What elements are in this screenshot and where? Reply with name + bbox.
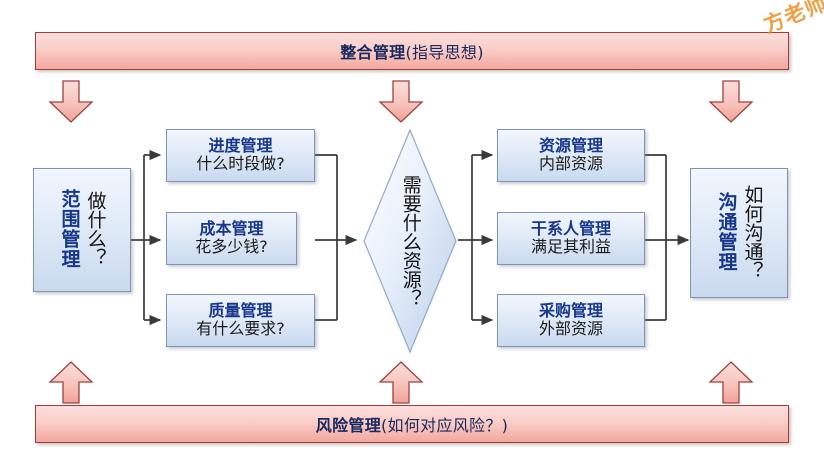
node-quality-management[interactable]: 质量管理 有什么要求? — [166, 294, 315, 347]
node-scope-management-question: 做什么？ — [86, 191, 105, 267]
node-quality-management-subtitle: 有什么要求? — [196, 321, 285, 338]
node-stakeholder-management-title: 干系人管理 — [531, 221, 611, 238]
down-arrow-right — [708, 80, 754, 124]
diagram-canvas: 整合管理(指导思想) 范围管理 做什么？ 进度管理 — [0, 0, 824, 464]
up-arrow-right — [708, 360, 754, 404]
down-arrow-center — [378, 80, 424, 124]
node-schedule-management-subtitle: 什么时段做? — [196, 156, 285, 173]
node-communication-management[interactable]: 沟通管理 如何沟通？ — [690, 168, 788, 298]
node-procurement-management-subtitle: 外部资源 — [539, 321, 603, 338]
risk-management-banner: 风险管理(如何对应风险？) — [35, 405, 789, 443]
node-quality-management-title: 质量管理 — [208, 303, 272, 320]
risk-management-label: 风险管理(如何对应风险？) — [316, 412, 508, 436]
node-communication-management-question: 如何沟通？ — [743, 185, 762, 280]
integration-management-title: 整合管理 — [340, 43, 405, 62]
node-cost-management-title: 成本管理 — [199, 221, 263, 238]
up-arrow-left — [48, 360, 94, 404]
node-stakeholder-management-subtitle: 满足其利益 — [531, 239, 611, 256]
up-arrow-center — [378, 360, 424, 404]
down-arrow-left — [48, 80, 94, 124]
node-resource-management[interactable]: 资源管理 内部资源 — [497, 129, 645, 182]
node-procurement-management-title: 采购管理 — [539, 303, 603, 320]
risk-management-title: 风险管理 — [316, 416, 381, 435]
node-scope-management[interactable]: 范围管理 做什么？ — [33, 168, 131, 292]
node-resource-decision-label: 需要什么资源？ — [400, 175, 419, 308]
node-stakeholder-management[interactable]: 干系人管理 满足其利益 — [497, 212, 645, 265]
node-schedule-management-title: 进度管理 — [208, 138, 272, 155]
node-cost-management-subtitle: 花多少钱? — [195, 239, 268, 256]
node-resource-management-subtitle: 内部资源 — [539, 156, 603, 173]
node-scope-management-title: 范围管理 — [60, 189, 79, 269]
integration-management-subtitle: (指导思想) — [405, 43, 483, 62]
integration-management-label: 整合管理(指导思想) — [340, 39, 484, 63]
node-schedule-management[interactable]: 进度管理 什么时段做? — [166, 129, 315, 182]
node-resource-management-title: 资源管理 — [539, 138, 603, 155]
node-communication-management-title: 沟通管理 — [717, 192, 736, 272]
node-resource-decision-label-wrap: 需要什么资源？ — [362, 128, 458, 354]
node-procurement-management[interactable]: 采购管理 外部资源 — [497, 294, 645, 347]
integration-management-banner: 整合管理(指导思想) — [35, 32, 789, 70]
risk-management-subtitle: (如何对应风险？) — [381, 416, 508, 435]
node-cost-management[interactable]: 成本管理 花多少钱? — [166, 212, 297, 265]
node-resource-decision[interactable]: 需要什么资源？ — [362, 128, 458, 354]
